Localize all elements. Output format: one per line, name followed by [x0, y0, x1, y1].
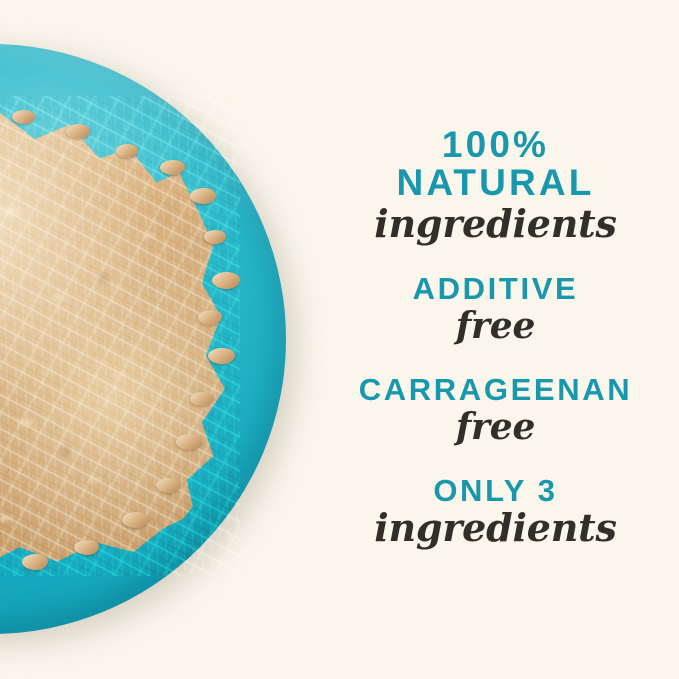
product-benefits-panel: 100% NATURAL ingredients ADDITIVE free C… — [0, 0, 679, 679]
claim-only3-script: ingredients — [312, 509, 679, 547]
benefit-claims-list: 100% NATURAL ingredients ADDITIVE free C… — [312, 0, 679, 679]
claim-additive-primary: ADDITIVE — [312, 273, 679, 305]
food-crumb — [212, 272, 240, 289]
claim-carrageenan-free: CARRAGEENAN free — [312, 374, 679, 445]
claim-natural-line2: NATURAL — [312, 164, 679, 202]
claim-carrageenan-primary: CARRAGEENAN — [312, 374, 679, 406]
claim-carrageenan-script: free — [312, 409, 679, 445]
food-crumb — [190, 188, 216, 204]
claim-additive-script: free — [312, 308, 679, 344]
food-crumb — [12, 110, 35, 124]
food-crumb — [66, 124, 90, 139]
food-base-layer — [0, 96, 240, 576]
food-crumb — [160, 160, 185, 175]
food-crumb — [204, 230, 226, 244]
claim-only-3-ingredients: ONLY 3 ingredients — [312, 475, 679, 548]
food-crumb — [190, 392, 213, 406]
food-crumb — [208, 348, 235, 364]
claim-natural-primary: 100% NATURAL — [312, 126, 679, 201]
shredded-food-mound — [0, 96, 240, 576]
food-crumb — [176, 434, 202, 450]
claim-only3-primary: ONLY 3 — [312, 475, 679, 507]
food-crumb — [122, 512, 149, 528]
product-photo — [0, 0, 340, 679]
claim-natural-script: ingredients — [312, 205, 679, 243]
claim-additive-free: ADDITIVE free — [312, 273, 679, 344]
food-crumb — [116, 144, 138, 158]
food-crumb — [22, 554, 48, 570]
food-crumb — [74, 540, 99, 555]
claim-natural-line1: 100% — [312, 126, 679, 164]
food-crumb — [198, 310, 222, 325]
claim-natural-ingredients: 100% NATURAL ingredients — [312, 126, 679, 243]
food-crumb — [156, 478, 180, 493]
